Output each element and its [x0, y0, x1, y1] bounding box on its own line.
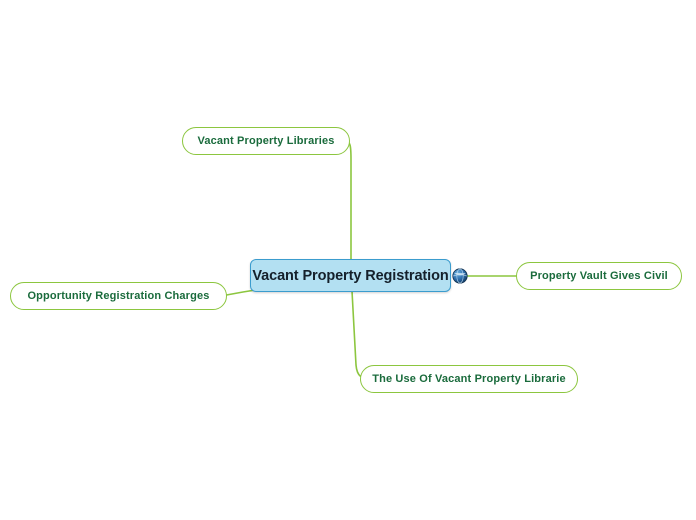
branch-node-top-label: Vacant Property Libraries — [197, 135, 334, 147]
branch-node-bottom[interactable]: The Use Of Vacant Property Librarie — [360, 365, 578, 393]
branch-node-right[interactable]: Property Vault Gives Civil — [516, 262, 682, 290]
branch-node-right-label: Property Vault Gives Civil — [530, 270, 668, 282]
globe-icon[interactable] — [452, 268, 468, 284]
branch-node-bottom-label: The Use Of Vacant Property Librarie — [372, 373, 566, 385]
branch-node-top[interactable]: Vacant Property Libraries — [182, 127, 350, 155]
root-node[interactable]: Vacant Property Registration — [250, 259, 451, 292]
branch-node-left[interactable]: Opportunity Registration Charges — [10, 282, 227, 310]
mindmap-canvas[interactable]: Vacant Property Registration Vacant Prop… — [0, 0, 696, 520]
connector-top — [344, 140, 351, 259]
branch-node-left-label: Opportunity Registration Charges — [27, 290, 209, 302]
root-node-label: Vacant Property Registration — [252, 268, 448, 284]
